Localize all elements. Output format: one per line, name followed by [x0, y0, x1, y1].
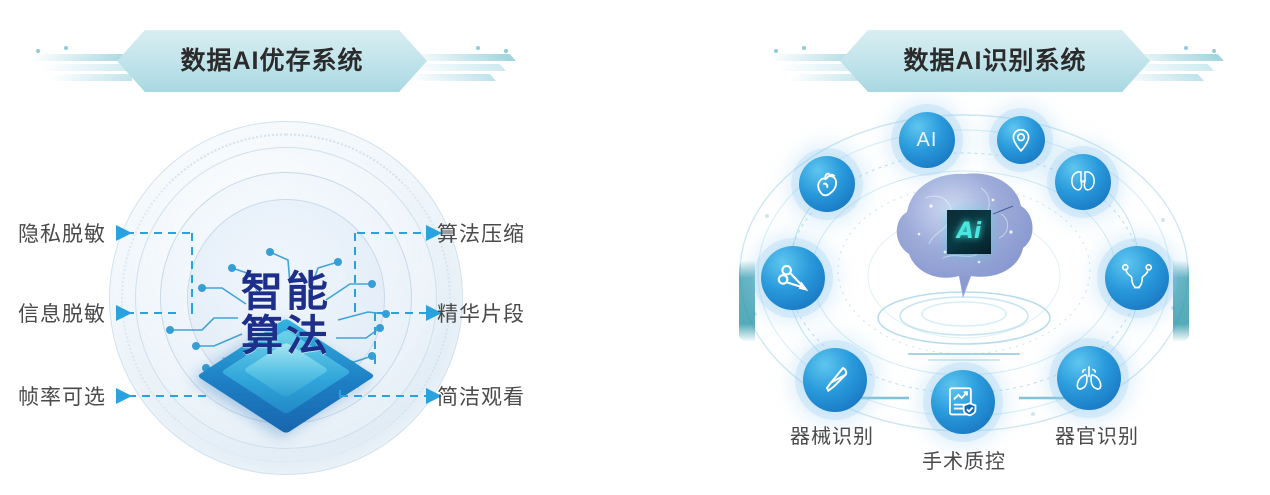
label-organ-recognition: 器官识别 [1055, 427, 1139, 447]
kidney-icon[interactable] [1055, 154, 1111, 210]
left-bracket-decoration [739, 260, 755, 342]
heart-icon[interactable] [799, 156, 855, 212]
core-wordmark-line2: 算法 [241, 314, 331, 358]
ai-chip-badge: Ai [947, 210, 991, 254]
location-pin-icon[interactable] [997, 116, 1045, 164]
label-information-desensitization: 信息脱敏 [18, 304, 106, 325]
banner-right-plate: 数据AI识别系统 [840, 30, 1150, 92]
label-privacy-desensitization: 隐私脱敏 [18, 224, 106, 245]
ai-text-icon[interactable]: AI [899, 112, 955, 168]
forceps-icon[interactable] [761, 246, 825, 310]
banner-right-title: 数据AI识别系统 [903, 49, 1086, 74]
right-bracket-decoration [1173, 260, 1189, 342]
lungs-icon[interactable] [1057, 346, 1121, 410]
quality-chart-shield-icon[interactable] [931, 370, 995, 434]
connector-lines [0, 0, 635, 495]
banner-right: 数据AI识别系统 [760, 30, 1230, 92]
ai-text-icon-label: AI [917, 130, 938, 150]
label-concise-viewing: 简洁观看 [437, 387, 525, 408]
uterus-icon[interactable] [1105, 246, 1169, 310]
panel-data-ai-storage: 数据AI优存系统 [0, 0, 635, 495]
label-surgery-quality-control: 手术质控 [922, 452, 1006, 472]
ai-chip-text: Ai [957, 221, 982, 243]
label-frame-rate-optional: 帧率可选 [18, 387, 106, 408]
label-highlight-clips: 精华片段 [437, 304, 525, 325]
core-wordmark-line1: 智能 [241, 270, 331, 314]
infographic-stage: 数据AI优存系统 [0, 0, 1270, 495]
orbit-graphic: Ai AI [733, 108, 1195, 438]
label-instrument-recognition: 器械识别 [790, 427, 874, 447]
panel-data-ai-recognition: 数据AI识别系统 [635, 0, 1270, 495]
scalpel-icon[interactable] [803, 348, 867, 412]
core-wordmark: 智能 算法 [241, 270, 331, 357]
label-algorithm-compression: 算法压缩 [437, 224, 525, 245]
brain-icon: Ai [885, 168, 1045, 300]
